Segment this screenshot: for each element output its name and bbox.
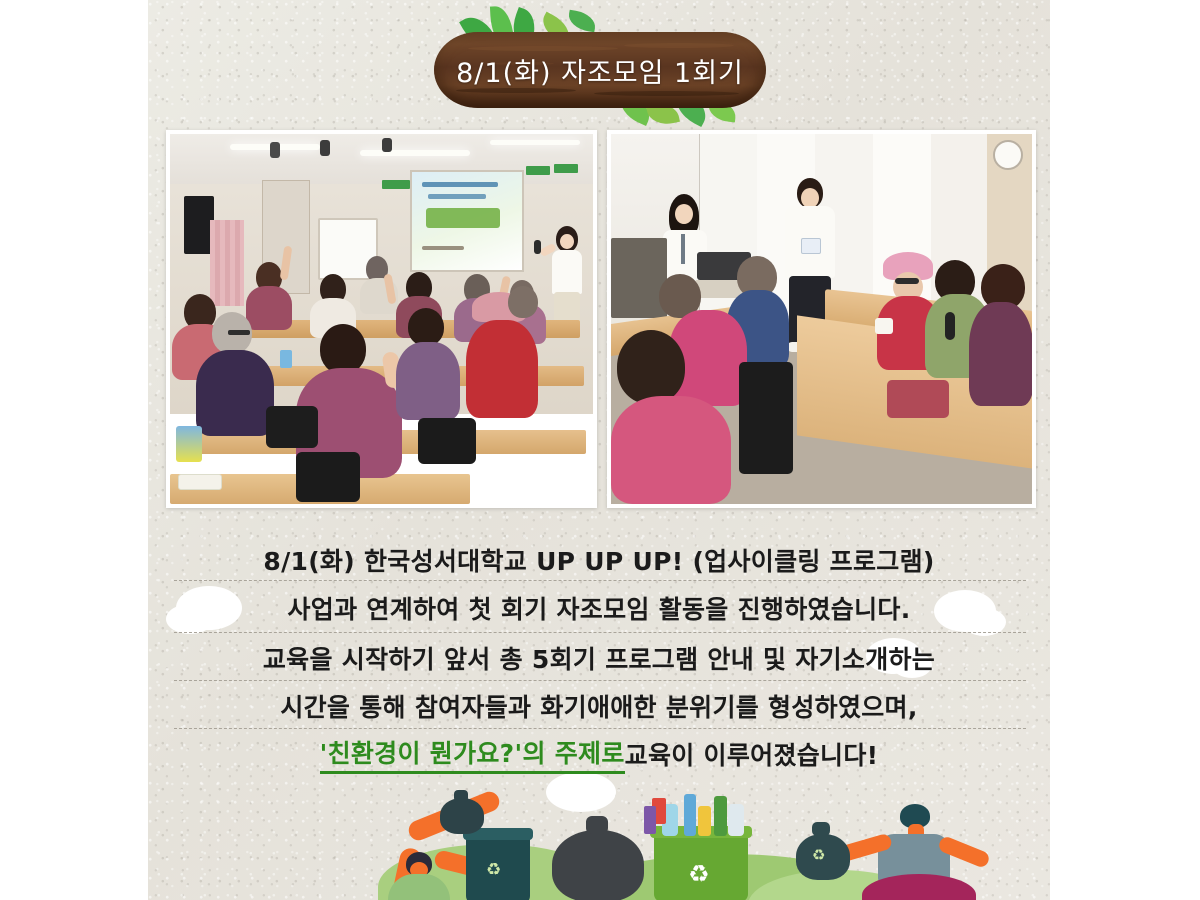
garbage-bag-large [552,830,644,900]
bottle-white [728,804,744,836]
garbage-bag-small [440,798,484,834]
body-line-1-text: 8/1(화) 한국성서대학교 UP UP UP! (업사이클링 프로그램) [263,542,934,578]
wood-log-shape: 8/1(화) 자조모임 1회기 [434,32,766,108]
participant-body [611,396,731,504]
participant-body [246,286,292,330]
title-banner: 8/1(화) 자조모임 1회기 [148,6,1050,126]
participant-body [969,302,1032,406]
curtain [210,220,244,306]
body-line-3-text: 교육을 시작하기 앞서 총 5회기 프로그램 안내 및 자기소개하는 [263,640,935,676]
body-line-4: 시간을 통해 참여자들과 화기애애한 분위기를 형성하였으며, [166,684,1032,728]
ceiling-light-2 [360,150,470,156]
photo-left-image [170,134,593,504]
staff-female-lanyard [681,234,685,264]
photo-right[interactable] [607,130,1036,508]
body-line-2: 사업과 연계하여 첫 회기 자조모임 활동을 진행하였습니다. [166,586,1032,630]
recycling-illustration: ♻ ♻ ♻ [148,790,1050,900]
recycle-symbol-icon: ♻ [812,848,825,863]
body-line-3: 교육을 시작하기 앞서 총 5회기 프로그램 안내 및 자기소개하는 [166,636,1032,680]
eyeglasses-icon [228,330,250,335]
participant-body [196,350,274,436]
wall-sign-1 [382,180,410,189]
chair [739,362,793,474]
wall-clock-icon [993,140,1023,170]
banner-title: 8/1(화) 자조모임 1회기 [434,32,766,108]
cup [875,318,893,334]
body-line-4-text: 시간을 통해 참여자들과 화기애애한 분위기를 형성하였으며, [280,688,917,724]
participant-head [617,330,685,404]
body-line-1: 8/1(화) 한국성서대학교 UP UP UP! (업사이클링 프로그램) [166,538,1032,582]
body-line-5-rest: 교육이 이루어졌습니다! [625,736,879,772]
spot-light-1 [270,142,280,158]
body-line-5: '친환경이 뭔가요?'의 주제로 교육이 이루어졌습니다! [166,732,1032,776]
chair [266,406,318,448]
bottle-blue [684,794,696,836]
microphone-icon [945,312,955,340]
spot-light-3 [382,138,392,152]
participant-head [408,308,444,346]
handbag [887,380,949,418]
recycle-bin-green: ♻ [654,832,748,900]
separator-4 [174,728,1026,729]
staff-male-badge [801,238,821,254]
staff-female-face [675,204,693,224]
chair [296,452,360,502]
slide-title-art [426,208,500,228]
snack-pack [176,426,202,462]
body-text-block: 8/1(화) 한국성서대학교 UP UP UP! (업사이클링 프로그램) 사업… [166,528,1032,790]
participant-body [396,342,460,420]
recycle-bin-teal: ♻ [466,834,530,900]
garbage-bag-large-tie [586,816,608,834]
microphone-icon [534,240,541,254]
spot-light-2 [320,140,330,156]
photo-right-image [611,134,1032,504]
participant-head [508,286,538,318]
wall-sign-3 [554,164,578,173]
garbage-bag-carried-tie [812,822,830,836]
slide-subheading [428,194,486,199]
recycle-symbol-icon: ♻ [688,862,710,886]
ceiling-light-3 [490,140,580,145]
table-item [280,350,292,368]
presenter-face [560,234,574,249]
sunglasses-icon [895,278,919,284]
poster-card: 8/1(화) 자조모임 1회기 [148,0,1050,900]
separator-3 [174,680,1026,681]
garbage-bag-carried: ♻ [796,834,850,880]
shelf-unit [611,238,667,318]
photo-left[interactable] [166,130,597,508]
slide-footer [422,246,464,250]
staff-male-face [801,188,819,208]
carton-multi [644,806,656,834]
bottle-green [714,796,727,836]
participant-head [320,324,366,374]
recycle-symbol-icon: ♻ [486,862,501,879]
separator-2 [174,632,1026,633]
bottle-yellow [698,806,711,836]
body-line-2-text: 사업과 연계하여 첫 회기 자조모임 활동을 진행하였습니다. [287,590,910,626]
garbage-bag-small-tie [454,790,468,802]
chair [418,418,476,464]
photo-gallery [166,130,1036,510]
leaf-icon-top-tip [567,10,598,33]
body-line-5-highlight: '친환경이 뭔가요?'의 주제로 [320,734,625,774]
presenter-torso [552,250,582,294]
participant-body [466,320,538,418]
wall-sign-2 [526,166,550,175]
snack-bar [178,474,222,490]
slide-heading [422,182,498,187]
